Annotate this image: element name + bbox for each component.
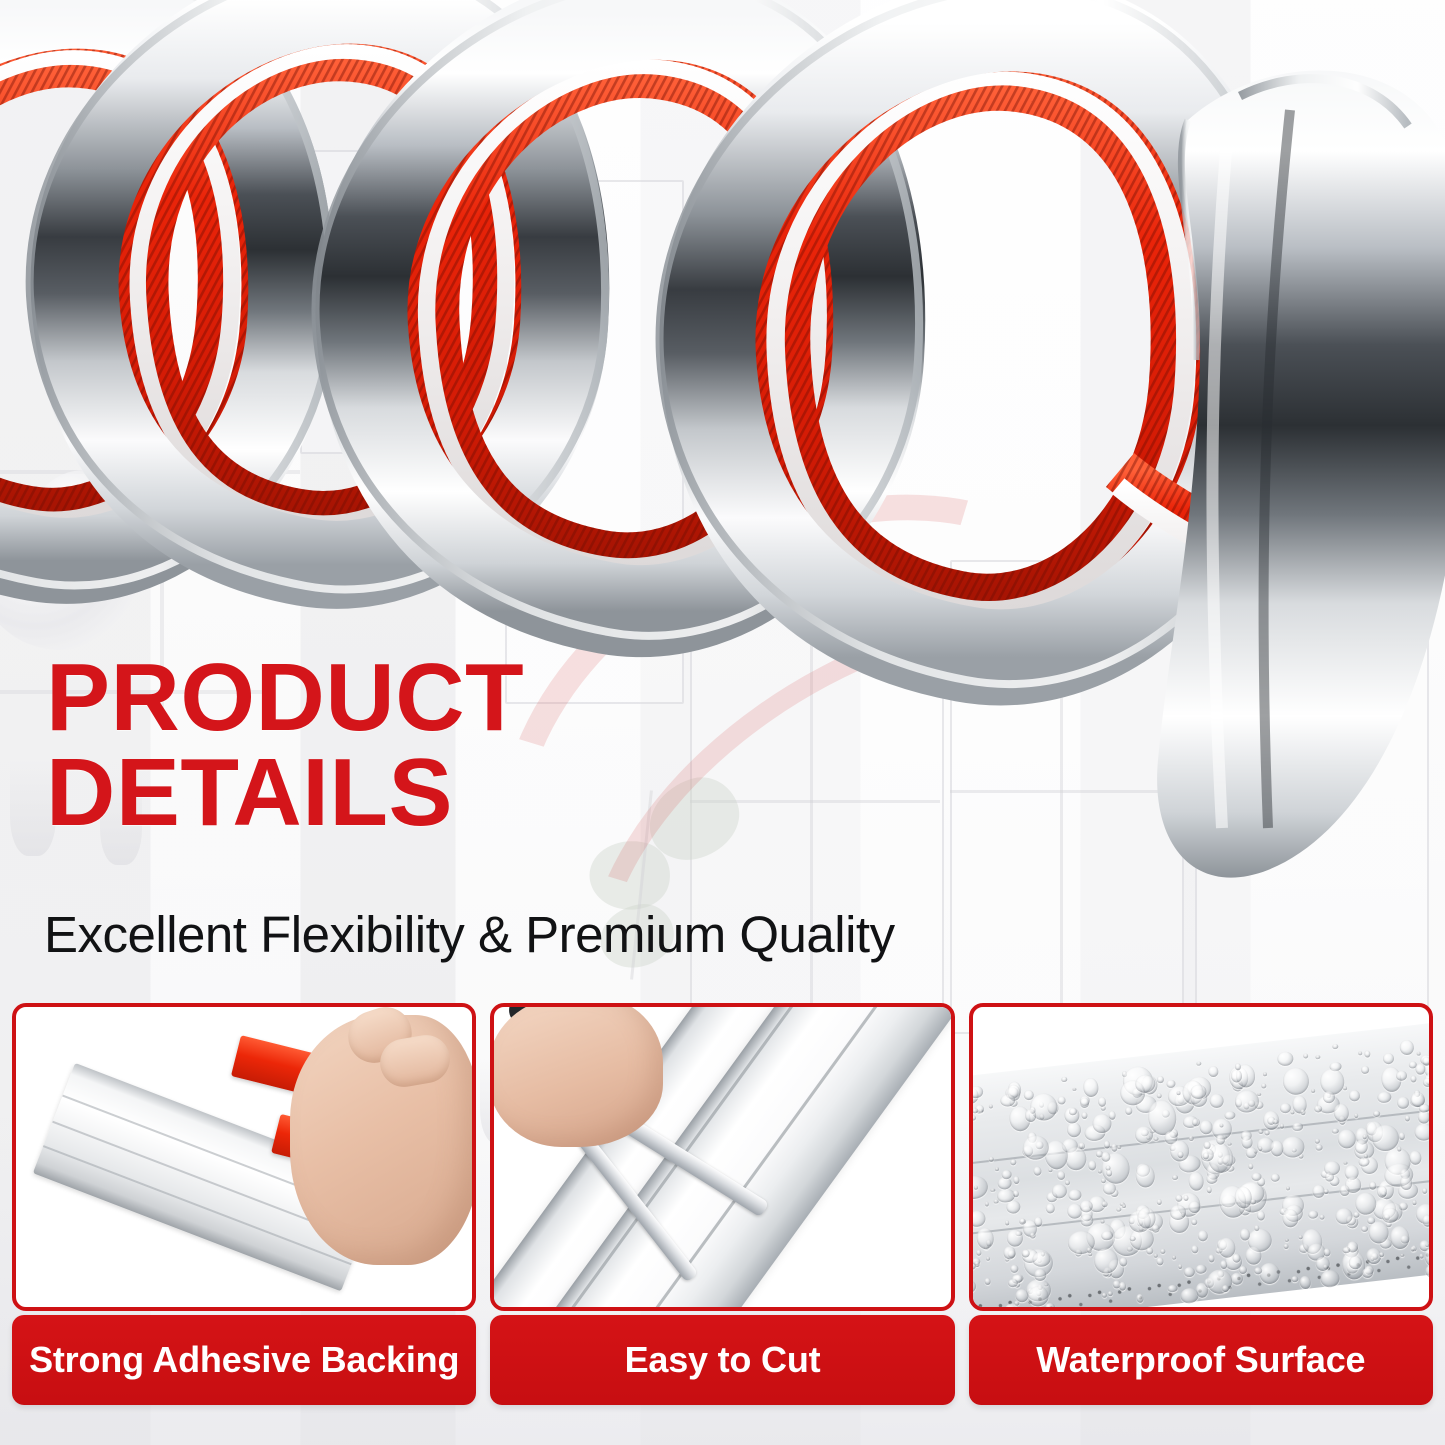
water-droplet [1431, 1092, 1433, 1124]
feature-card-adhesive: Strong Adhesive Backing [12, 1003, 476, 1445]
water-droplet [1332, 1044, 1339, 1050]
water-droplet [1281, 1067, 1309, 1097]
water-droplet [1283, 1243, 1288, 1248]
water-droplet [990, 1188, 995, 1192]
water-droplet [1234, 1089, 1260, 1113]
water-droplet [1431, 1036, 1433, 1040]
water-droplet [1422, 1077, 1432, 1087]
water-droplet [1081, 1112, 1087, 1120]
water-droplet [1188, 1171, 1205, 1191]
water-droplet [1284, 1238, 1289, 1242]
feature-photo-cut [490, 1003, 954, 1311]
water-droplet [1134, 1164, 1155, 1189]
water-droplet [1045, 1202, 1055, 1214]
water-droplet [1136, 1293, 1144, 1303]
water-droplet [1300, 1109, 1305, 1115]
water-droplet [1160, 1249, 1165, 1254]
water-droplet [988, 1104, 993, 1109]
water-droplet [1007, 1278, 1018, 1287]
water-droplet [1005, 1200, 1020, 1215]
water-droplet [969, 1174, 989, 1201]
water-droplet [1302, 1053, 1308, 1059]
water-droplet [1239, 1228, 1250, 1240]
water-droplet [1372, 1110, 1380, 1117]
water-droplet [1395, 1070, 1407, 1081]
water-droplet [1125, 1107, 1133, 1115]
water-droplet [1291, 1122, 1303, 1132]
page-title: PRODUCT DETAILS [46, 650, 1146, 840]
water-droplets [969, 1022, 1433, 1081]
water-droplet [1153, 1253, 1158, 1258]
water-droplet [1100, 1151, 1111, 1162]
water-droplet [1221, 1284, 1228, 1292]
water-droplet [1276, 1051, 1293, 1067]
feature-caption-cut: Easy to Cut [490, 1315, 954, 1405]
water-droplet [1315, 1054, 1320, 1058]
water-droplet [1319, 1215, 1324, 1220]
water-droplet [1009, 1264, 1018, 1273]
water-droplet [1205, 1173, 1218, 1184]
water-droplet [1315, 1144, 1322, 1151]
water-droplet [1080, 1097, 1089, 1107]
water-droplet [1171, 1255, 1176, 1259]
water-droplet [1006, 1229, 1024, 1248]
water-droplet [1115, 1207, 1120, 1212]
water-droplet [1399, 1176, 1412, 1191]
feature-card-cut: Easy to Cut [490, 1003, 954, 1445]
water-droplet [1051, 1183, 1067, 1199]
chrome-surface [969, 1022, 1433, 1311]
water-droplet [1057, 1096, 1066, 1106]
page-title-line-1: PRODUCT [46, 650, 1146, 745]
water-droplet [1360, 1066, 1369, 1075]
water-droplet [1156, 1093, 1162, 1099]
water-droplet [1177, 1151, 1184, 1158]
water-droplet [1358, 1051, 1363, 1056]
water-droplet [1312, 1185, 1325, 1199]
water-droplet [1415, 1063, 1426, 1075]
water-droplet [969, 1262, 976, 1270]
water-droplet [1307, 1210, 1318, 1219]
water-droplet [1121, 1203, 1126, 1208]
water-droplet [1363, 1050, 1370, 1058]
water-droplet [1381, 1207, 1399, 1224]
water-droplet [1219, 1259, 1227, 1269]
water-droplet [1230, 1068, 1242, 1082]
water-droplet [1116, 1145, 1121, 1150]
water-droplet [1145, 1247, 1153, 1255]
water-droplet [969, 1279, 977, 1294]
page-subtitle: Excellent Flexibility & Premium Quality [44, 905, 895, 964]
water-droplet [1399, 1040, 1414, 1056]
page-title-line-2: DETAILS [46, 745, 1146, 840]
water-droplet [1021, 1249, 1030, 1257]
water-droplet [1118, 1281, 1126, 1291]
water-droplet [1396, 1096, 1409, 1110]
water-droplet [1190, 1219, 1197, 1226]
water-droplet [969, 1210, 986, 1228]
water-droplet [1177, 1264, 1182, 1270]
water-droplet [1061, 1077, 1067, 1082]
water-droplet [1343, 1161, 1347, 1165]
water-droplet [1082, 1077, 1099, 1097]
water-droplet [1172, 1175, 1178, 1181]
water-droplet [1224, 1110, 1236, 1120]
water-droplet [1072, 1088, 1076, 1092]
water-droplet [984, 1278, 991, 1285]
water-droplet [1013, 1176, 1020, 1184]
water-droplet [1048, 1168, 1053, 1172]
water-droplet [1066, 1121, 1082, 1138]
water-droplet [1209, 1093, 1224, 1109]
water-droplet [1331, 1128, 1338, 1134]
water-droplet [1269, 1140, 1284, 1157]
water-droplet [1064, 1180, 1070, 1186]
water-droplet [1416, 1051, 1421, 1056]
water-droplet [1410, 1075, 1417, 1083]
water-droplet [1404, 1115, 1410, 1121]
water-droplet [1194, 1264, 1206, 1274]
water-droplet [1279, 1103, 1291, 1114]
water-droplet [1196, 1061, 1202, 1066]
water-droplet [1044, 1302, 1055, 1311]
water-droplet [1264, 1131, 1269, 1136]
water-droplet [1245, 1147, 1257, 1159]
water-droplet [1205, 1186, 1211, 1193]
water-droplet [1001, 1170, 1011, 1180]
feature-caption-waterproof: Waterproof Surface [969, 1315, 1433, 1405]
water-droplet [1110, 1144, 1117, 1152]
water-droplet [1378, 1252, 1384, 1257]
water-droplet [1310, 1088, 1315, 1093]
water-droplet [1413, 1123, 1433, 1142]
water-droplet [988, 1157, 994, 1162]
water-droplet [1021, 1309, 1031, 1311]
water-droplet [1190, 1245, 1198, 1254]
water-droplet [1257, 1146, 1262, 1152]
water-droplet [1247, 1163, 1253, 1170]
water-droplet [1003, 1246, 1016, 1260]
water-droplet [1244, 1246, 1262, 1266]
feature-panel-row: Strong Adhesive Backing Easy to Cut [0, 1003, 1445, 1445]
water-droplet [1389, 1225, 1410, 1249]
water-droplet [1156, 1257, 1163, 1265]
feature-photo-adhesive [12, 1003, 476, 1311]
water-droplet [1207, 1066, 1218, 1078]
water-droplet [1056, 1171, 1065, 1181]
coil-loop-5 [1157, 70, 1445, 877]
water-droplet [1207, 1254, 1214, 1263]
water-droplet [1285, 1186, 1289, 1190]
water-droplet [969, 1279, 972, 1304]
water-droplet [1234, 1063, 1240, 1071]
water-droplet [1430, 1055, 1433, 1060]
water-droplet [1256, 1210, 1265, 1221]
water-droplet [1361, 1226, 1369, 1233]
water-droplet [1108, 1110, 1116, 1120]
water-droplet [1429, 1205, 1433, 1213]
water-droplet [1270, 1173, 1280, 1182]
water-droplet [1422, 1188, 1428, 1195]
water-droplet [1348, 1090, 1360, 1102]
water-droplet [1231, 1253, 1241, 1263]
water-droplet [1369, 1181, 1376, 1189]
water-droplet [986, 1257, 991, 1262]
water-droplet [1156, 1199, 1162, 1206]
water-droplet [975, 1250, 981, 1256]
water-droplet [1156, 1076, 1163, 1083]
water-droplet [1272, 1119, 1278, 1124]
product-details-infographic: PRODUCT DETAILS Excellent Flexibility & … [0, 0, 1445, 1445]
water-droplet [1382, 1052, 1395, 1065]
water-droplet [1412, 1200, 1417, 1205]
water-droplet [1290, 1110, 1294, 1115]
water-droplet [1097, 1096, 1106, 1107]
water-droplet [1033, 1166, 1042, 1176]
water-droplet [1253, 1266, 1262, 1274]
water-droplet [1183, 1195, 1188, 1201]
water-droplet [969, 1085, 984, 1099]
water-droplet [1087, 1160, 1096, 1171]
feature-photo-waterproof [969, 1003, 1433, 1311]
feature-caption-adhesive: Strong Adhesive Backing [12, 1315, 476, 1405]
water-droplet [994, 1167, 999, 1172]
water-droplet [984, 1201, 989, 1207]
water-droplet [1421, 1214, 1432, 1227]
water-droplet [970, 1115, 976, 1121]
water-droplet [1279, 1123, 1284, 1128]
water-droplet [971, 1107, 978, 1113]
water-droplet [1068, 1189, 1082, 1201]
water-droplet [993, 1199, 998, 1204]
water-droplet [1068, 1108, 1076, 1116]
water-droplet [1188, 1136, 1194, 1141]
water-droplet [1029, 1232, 1036, 1239]
water-droplet [1353, 1113, 1358, 1118]
water-droplet [1097, 1169, 1102, 1173]
water-droplet [1263, 1072, 1268, 1077]
water-droplet [1012, 1190, 1019, 1198]
water-droplet [1010, 1159, 1017, 1165]
water-droplet [1197, 1230, 1208, 1242]
water-droplet [1129, 1236, 1135, 1242]
hand [490, 1003, 663, 1147]
water-droplet [1101, 1201, 1107, 1208]
water-droplet [1339, 1184, 1350, 1197]
water-droplet [1014, 1289, 1028, 1303]
water-droplet [1188, 1200, 1201, 1213]
water-droplet [1260, 1083, 1265, 1088]
water-droplet [1005, 1220, 1010, 1225]
water-droplet [1376, 1091, 1391, 1104]
water-droplet [1323, 1189, 1328, 1194]
feature-card-waterproof: Waterproof Surface [969, 1003, 1433, 1445]
water-droplet [1257, 1129, 1263, 1135]
